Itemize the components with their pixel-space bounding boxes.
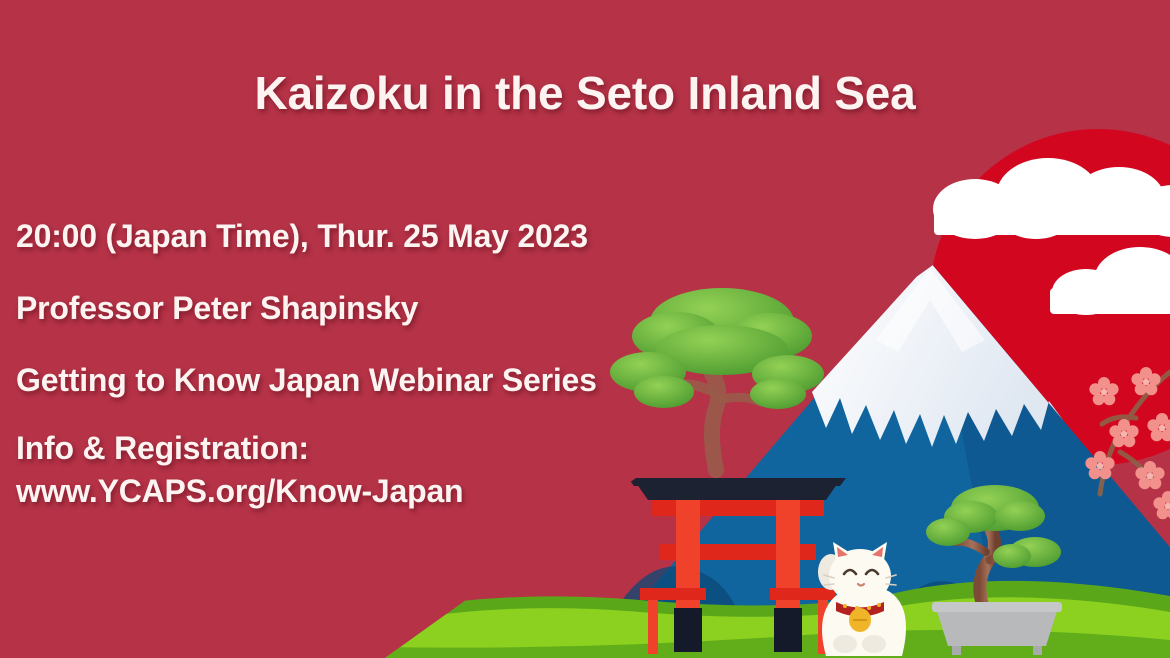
text-layer: Kaizoku in the Seto Inland Sea 20:00 (Ja… xyxy=(0,0,1170,658)
registration-label: Info & Registration: xyxy=(16,430,309,467)
registration-url[interactable]: www.YCAPS.org/Know-Japan xyxy=(16,473,463,510)
poster-canvas: Kaizoku in the Seto Inland Sea 20:00 (Ja… xyxy=(0,0,1170,658)
event-series: Getting to Know Japan Webinar Series xyxy=(16,362,597,399)
page-title: Kaizoku in the Seto Inland Sea xyxy=(0,66,1170,120)
event-speaker: Professor Peter Shapinsky xyxy=(16,290,418,327)
event-datetime: 20:00 (Japan Time), Thur. 25 May 2023 xyxy=(16,218,588,255)
